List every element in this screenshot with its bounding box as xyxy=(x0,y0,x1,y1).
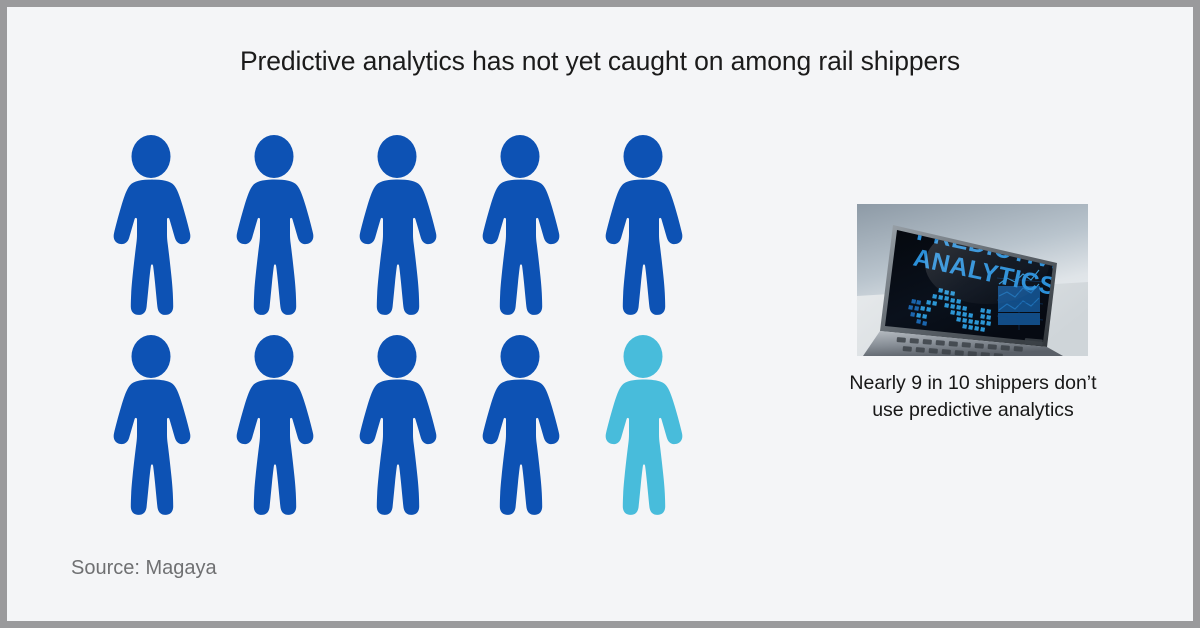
person-icon xyxy=(472,135,568,315)
page-title: Predictive analytics has not yet caught … xyxy=(7,45,1193,77)
person-icon-highlighted xyxy=(595,335,691,515)
person-icon xyxy=(595,135,691,315)
predictive-analytics-laptop-image: PREDICTIVE ANALYTICS xyxy=(857,204,1088,356)
photo-caption: Nearly 9 in 10 shippers don’t use predic… xyxy=(797,370,1149,424)
source-note: Source: Magaya xyxy=(71,555,217,581)
person-icon xyxy=(349,135,445,315)
pictogram-row xyxy=(103,335,723,515)
infographic-canvas: Predictive analytics has not yet caught … xyxy=(0,0,1200,628)
caption-line-1: Nearly 9 in 10 shippers don’t xyxy=(849,372,1096,394)
person-icon xyxy=(349,335,445,515)
person-icon xyxy=(472,335,568,515)
person-icon xyxy=(103,335,199,515)
pictogram-row xyxy=(103,135,723,315)
person-icon xyxy=(226,135,322,315)
person-icon xyxy=(226,335,322,515)
pictogram-chart xyxy=(103,135,723,525)
person-icon xyxy=(103,135,199,315)
caption-line-2: use predictive analytics xyxy=(872,399,1074,421)
laptop-photo-figure: PREDICTIVE ANALYTICS xyxy=(857,204,1088,356)
